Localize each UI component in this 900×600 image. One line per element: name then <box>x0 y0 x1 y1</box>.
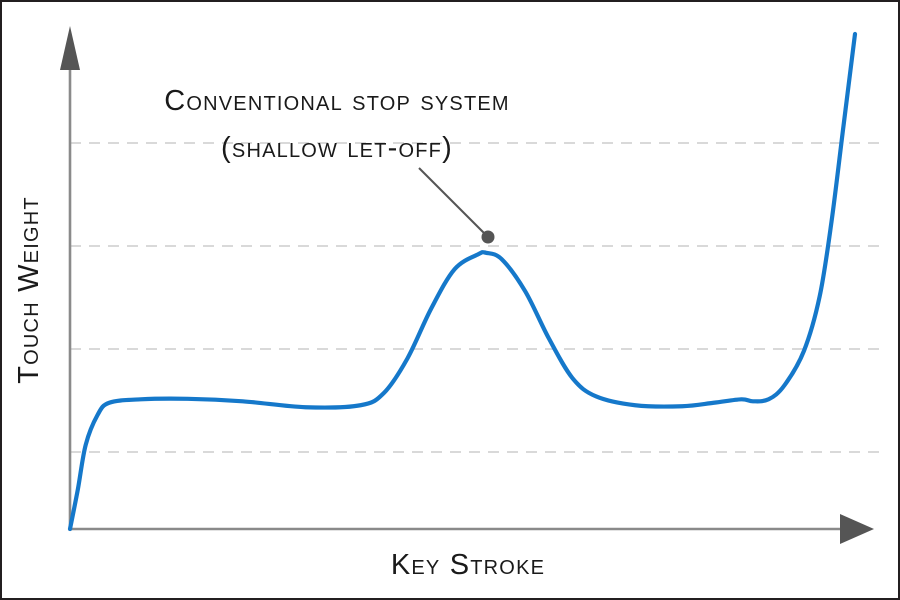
arrow-up-icon <box>60 26 80 70</box>
gridlines <box>70 143 883 452</box>
annotation-leader-line <box>419 168 485 234</box>
dot-marker-icon <box>482 231 495 244</box>
x-axis <box>69 514 874 544</box>
arrow-right-icon <box>840 514 874 544</box>
chart-page: Conventional stop system (shallow let-of… <box>0 0 900 600</box>
annotation-leader <box>419 168 495 244</box>
y-axis <box>60 26 80 531</box>
y-axis-label: Touch Weight <box>13 196 45 384</box>
annotation-line-2: (shallow let-off) <box>221 132 453 164</box>
x-axis-label: Key Stroke <box>391 549 545 581</box>
annotation-line-1: Conventional stop system <box>164 85 510 117</box>
touch-weight-vs-key-stroke-chart: Conventional stop system (shallow let-of… <box>2 2 900 600</box>
